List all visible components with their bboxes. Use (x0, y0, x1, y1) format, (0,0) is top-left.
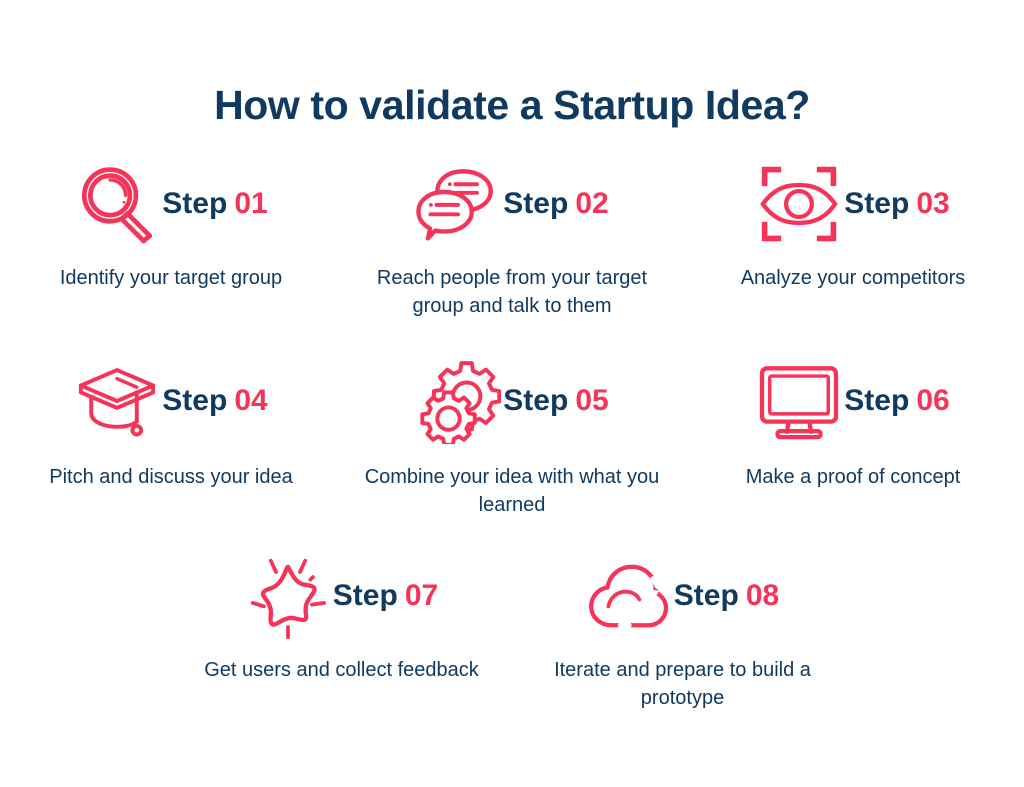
step-label-07: Step07 (333, 581, 438, 611)
step-word-01: Step (162, 187, 227, 220)
step-header-05: Step05 (348, 351, 677, 451)
speech-bubbles-icon (415, 161, 501, 247)
step-header-03: Step03 (689, 156, 1018, 252)
step-word-05: Step (503, 384, 568, 417)
step-word-04: Step (162, 384, 227, 417)
step-number-08: 08 (746, 579, 779, 612)
step-caption-05: Combine your idea with what you learned (348, 463, 677, 520)
step-caption-04: Pitch and discuss your idea (7, 463, 336, 491)
step-word-07: Step (333, 579, 398, 612)
gears-icon (415, 358, 501, 444)
step-number-01: 01 (234, 187, 267, 220)
steps-row-3: Step07 Get users and collect feedback (0, 548, 1024, 713)
step-label-01: Step01 (162, 189, 267, 219)
step-label-03: Step03 (844, 189, 949, 219)
sparkling-star-icon (245, 553, 331, 639)
step-caption-07: Get users and collect feedback (177, 656, 506, 684)
step-header-02: Step02 (348, 156, 677, 252)
step-header-04: Step04 (7, 351, 336, 451)
step-header-07: Step07 (177, 548, 506, 644)
step-caption-02: Reach people from your target group and … (348, 264, 677, 321)
step-word-06: Step (844, 384, 909, 417)
step-word-03: Step (844, 187, 909, 220)
step-card-01: Step01 Identify your target group (1, 156, 342, 292)
graduation-cap-icon (74, 358, 160, 444)
page-title: How to validate a Startup Idea? (0, 27, 1024, 128)
step-number-07: 07 (405, 579, 438, 612)
steps-container: Step01 Identify your target group (0, 156, 1024, 712)
step-card-04: Step04 Pitch and discuss your idea (1, 351, 342, 491)
step-label-06: Step06 (844, 386, 949, 416)
step-card-07: Step07 Get users and collect feedback (171, 548, 512, 684)
step-number-02: 02 (575, 187, 608, 220)
step-number-03: 03 (916, 187, 949, 220)
step-number-06: 06 (916, 384, 949, 417)
step-card-05: Step05 Combine your idea with what you l… (342, 351, 683, 520)
step-caption-06: Make a proof of concept (689, 463, 1018, 491)
cloud-icon (586, 553, 672, 639)
monitor-icon (756, 358, 842, 444)
step-header-06: Step06 (689, 351, 1018, 451)
step-card-06: Step06 Make a proof of concept (683, 351, 1024, 491)
steps-row-2: Step04 Pitch and discuss your idea Step0… (0, 351, 1024, 520)
step-label-08: Step08 (674, 581, 779, 611)
infographic-page: How to validate a Startup Idea? (0, 27, 1024, 787)
step-caption-01: Identify your target group (7, 264, 336, 292)
step-number-05: 05 (575, 384, 608, 417)
step-card-03: Step03 Analyze your competitors (683, 156, 1024, 292)
magnifying-glass-icon (74, 161, 160, 247)
step-label-02: Step02 (503, 189, 608, 219)
step-header-01: Step01 (7, 156, 336, 252)
step-label-04: Step04 (162, 386, 267, 416)
step-caption-08: Iterate and prepare to build a prototype (518, 656, 847, 713)
step-word-02: Step (503, 187, 568, 220)
step-header-08: Step08 (518, 548, 847, 644)
step-caption-03: Analyze your competitors (689, 264, 1018, 292)
step-card-02: Step02 Reach people from your target gro… (342, 156, 683, 321)
eye-scan-icon (756, 161, 842, 247)
steps-row-1: Step01 Identify your target group (0, 156, 1024, 321)
step-label-05: Step05 (503, 386, 608, 416)
step-card-08: Step08 Iterate and prepare to build a pr… (512, 548, 853, 713)
step-number-04: 04 (234, 384, 267, 417)
step-word-08: Step (674, 579, 739, 612)
